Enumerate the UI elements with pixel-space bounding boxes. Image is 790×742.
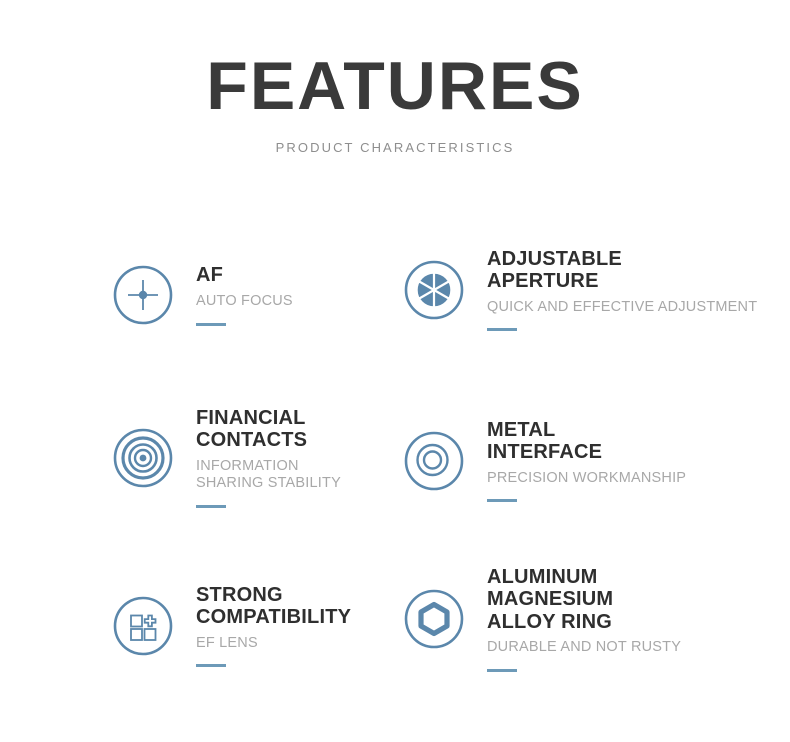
- concentric-target-icon: [112, 427, 174, 489]
- page-subtitle: PRODUCT CHARACTERISTICS: [0, 140, 790, 155]
- hexagon-nut-icon: [403, 588, 465, 650]
- feature-row: STRONG COMPATIBILITY EF LENS ALUMINUM MA…: [0, 566, 790, 733]
- feature-text-block: AF AUTO FOCUS: [196, 264, 293, 325]
- camera-aperture-icon: [403, 259, 465, 321]
- feature-text-block: ADJUSTABLE APERTURE QUICK AND EFFECTIVE …: [487, 248, 757, 331]
- features-grid: AF AUTO FOCUS: [0, 232, 790, 733]
- feature-subtitle: AUTO FOCUS: [196, 293, 293, 311]
- feature-text-block: METAL INTERFACE PRECISION WORKMANSHIP: [487, 419, 686, 502]
- feature-subtitle: PRECISION WORKMANSHIP: [487, 470, 686, 488]
- feature-title: FINANCIAL CONTACTS: [196, 407, 341, 452]
- feature-text-block: STRONG COMPATIBILITY EF LENS: [196, 584, 351, 667]
- four-squares-plus-icon: [112, 595, 174, 657]
- feature-title: ADJUSTABLE APERTURE: [487, 248, 757, 293]
- feature-text-block: ALUMINUM MAGNESIUM ALLOY RING DURABLE AN…: [487, 566, 681, 672]
- feature-title: STRONG COMPATIBILITY: [196, 584, 351, 629]
- feature-item-financial-contacts[interactable]: FINANCIAL CONTACTS INFORMATION SHARING S…: [112, 407, 341, 508]
- accent-underline: [487, 669, 517, 672]
- feature-subtitle: INFORMATION SHARING STABILITY: [196, 458, 341, 493]
- page-header: FEATURES PRODUCT CHARACTERISTICS: [0, 52, 790, 155]
- page-title: FEATURES: [0, 52, 790, 120]
- accent-underline: [487, 499, 517, 502]
- accent-underline: [196, 664, 226, 667]
- feature-title: METAL INTERFACE: [487, 419, 686, 464]
- feature-subtitle: EF LENS: [196, 635, 351, 653]
- feature-subtitle: QUICK AND EFFECTIVE ADJUSTMENT: [487, 299, 757, 317]
- accent-underline: [196, 323, 226, 326]
- feature-item-adjustable-aperture[interactable]: ADJUSTABLE APERTURE QUICK AND EFFECTIVE …: [403, 248, 757, 331]
- feature-row: FINANCIAL CONTACTS INFORMATION SHARING S…: [0, 399, 790, 566]
- feature-item-aluminum-magnesium-alloy-ring[interactable]: ALUMINUM MAGNESIUM ALLOY RING DURABLE AN…: [403, 566, 681, 672]
- feature-title: AF: [196, 264, 293, 286]
- accent-underline: [196, 505, 226, 508]
- feature-title: ALUMINUM MAGNESIUM ALLOY RING: [487, 566, 681, 633]
- feature-item-strong-compatibility[interactable]: STRONG COMPATIBILITY EF LENS: [112, 584, 351, 667]
- feature-item-af[interactable]: AF AUTO FOCUS: [112, 264, 293, 326]
- concentric-rings-icon: [403, 430, 465, 492]
- features-page: FEATURES PRODUCT CHARACTERISTICS AF AUT: [0, 0, 790, 742]
- feature-item-metal-interface[interactable]: METAL INTERFACE PRECISION WORKMANSHIP: [403, 419, 686, 502]
- accent-underline: [487, 328, 517, 331]
- feature-subtitle: DURABLE AND NOT RUSTY: [487, 639, 681, 657]
- feature-text-block: FINANCIAL CONTACTS INFORMATION SHARING S…: [196, 407, 341, 508]
- feature-row: AF AUTO FOCUS: [0, 232, 790, 399]
- crosshair-focus-icon: [112, 264, 174, 326]
